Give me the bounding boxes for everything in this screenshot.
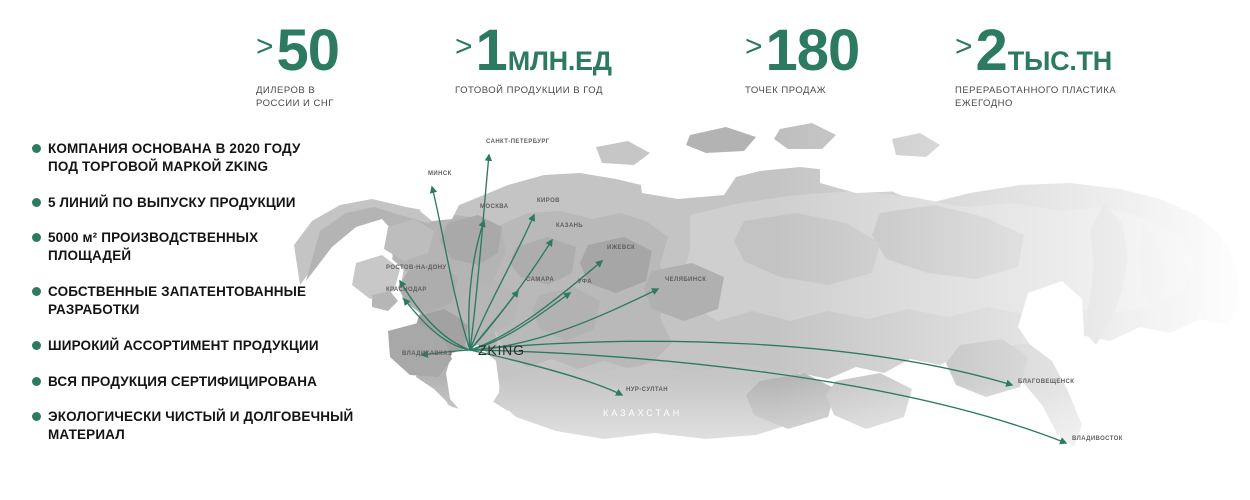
- greater-than-icon: >: [256, 32, 274, 62]
- country-label-kazakhstan: КАЗАХСТАН: [603, 408, 682, 418]
- city-label-chelyabinsk: ЧЕЛЯБИНСК: [665, 277, 706, 283]
- stat-dealers: > 50 ДИЛЕРОВ В РОССИИ И СНГ: [256, 22, 340, 111]
- stat-recycled-plastic-number: 2: [976, 22, 1007, 80]
- list-item: 5 ЛИНИЙ ПО ВЫПУСКУ ПРОДУКЦИИ: [32, 194, 412, 212]
- city-label-moscow: МОСКВА: [480, 204, 509, 210]
- list-item: ШИРОКИЙ АССОРТИМЕНТ ПРОДУКЦИИ: [32, 337, 412, 355]
- stat-dealers-subtitle: ДИЛЕРОВ В РОССИИ И СНГ: [256, 85, 340, 111]
- country-label-belarus: БЕЛАРУСИЯ: [432, 150, 508, 159]
- bullet-dot-icon: [32, 198, 41, 207]
- city-label-blagoveshchensk: БЛАГОВЕЩЕНСК: [1018, 379, 1074, 385]
- stat-output-subtitle: ГОТОВОЙ ПРОДУКЦИИ В ГОД: [455, 85, 612, 98]
- greater-than-icon: >: [455, 32, 473, 62]
- list-item: КОМПАНИЯ ОСНОВАНА В 2020 ГОДУ ПОД ТОРГОВ…: [32, 140, 412, 176]
- bullet-dot-icon: [32, 377, 41, 386]
- stat-dealers-number: 50: [277, 22, 340, 80]
- stat-recycled-plastic: > 2 ТЫС.ТН ПЕРЕРАБОТАННОГО ПЛАСТИКА ЕЖЕГ…: [955, 22, 1116, 111]
- stat-points-of-sale-figure: > 180: [745, 22, 860, 80]
- greater-than-icon: >: [955, 32, 973, 62]
- feature-list: КОМПАНИЯ ОСНОВАНА В 2020 ГОДУ ПОД ТОРГОВ…: [32, 140, 412, 462]
- stat-output: > 1 МЛН.ЕД ГОТОВОЙ ПРОДУКЦИИ В ГОД: [455, 22, 612, 98]
- stat-points-of-sale: > 180 ТОЧЕК ПРОДАЖ: [745, 22, 860, 98]
- bullet-dot-icon: [32, 144, 41, 153]
- feature-label: СОБСТВЕННЫЕ ЗАПАТЕНТОВАННЫЕ РАЗРАБОТКИ: [48, 283, 306, 319]
- bullet-dot-icon: [32, 412, 41, 421]
- stat-recycled-plastic-subtitle: ПЕРЕРАБОТАННОГО ПЛАСТИКА ЕЖЕГОДНО: [955, 85, 1116, 111]
- statistics-strip: > 50 ДИЛЕРОВ В РОССИИ И СНГ > 1 МЛН.ЕД Г…: [0, 0, 1250, 112]
- feature-label: ШИРОКИЙ АССОРТИМЕНТ ПРОДУКЦИИ: [48, 337, 319, 355]
- bullet-dot-icon: [32, 233, 41, 242]
- bullet-dot-icon: [32, 287, 41, 296]
- list-item: 5000 м² ПРОИЗВОДСТВЕННЫХ ПЛОЩАДЕЙ: [32, 229, 412, 265]
- feature-label: ВСЯ ПРОДУКЦИЯ СЕРТИФИЦИРОВАНА: [48, 373, 317, 391]
- feature-label: 5 ЛИНИЙ ПО ВЫПУСКУ ПРОДУКЦИИ: [48, 194, 296, 212]
- stat-recycled-plastic-unit: ТЫС.ТН: [1008, 48, 1112, 75]
- greater-than-icon: >: [745, 32, 763, 62]
- stat-output-figure: > 1 МЛН.ЕД: [455, 22, 612, 80]
- list-item: ЭКОЛОГИЧЕСКИ ЧИСТЫЙ И ДОЛГОВЕЧНЫЙ МАТЕРИ…: [32, 408, 412, 444]
- city-label-vladivostok: ВЛАДИВОСТОК: [1072, 436, 1123, 442]
- stat-output-unit: МЛН.ЕД: [508, 48, 612, 75]
- feature-label: КОМПАНИЯ ОСНОВАНА В 2020 ГОДУ ПОД ТОРГОВ…: [48, 140, 301, 176]
- stat-output-number: 1: [476, 22, 507, 80]
- infographic-page: БЕЛАРУСИЯ КАЗАХСТАН САНКТ-ПЕТЕРБУРГ МИНС…: [0, 0, 1250, 500]
- stat-dealers-figure: > 50: [256, 22, 340, 80]
- city-label-samara: САМАРА: [526, 277, 554, 283]
- city-label-saint-petersburg: САНКТ-ПЕТЕРБУРГ: [486, 139, 550, 145]
- city-label-izhevsk: ИЖЕВСК: [607, 245, 635, 251]
- hub-label-zking: ZKING: [478, 342, 525, 358]
- stat-points-of-sale-number: 180: [766, 22, 860, 80]
- feature-label: 5000 м² ПРОИЗВОДСТВЕННЫХ ПЛОЩАДЕЙ: [48, 229, 258, 265]
- stat-recycled-plastic-figure: > 2 ТЫС.ТН: [955, 22, 1116, 80]
- city-label-nur-sultan: НУР-СУЛТАН: [626, 387, 668, 393]
- city-label-ufa: УФА: [578, 279, 592, 285]
- list-item: ВСЯ ПРОДУКЦИЯ СЕРТИФИЦИРОВАНА: [32, 373, 412, 391]
- city-label-minsk: МИНСК: [428, 171, 452, 177]
- stat-points-of-sale-subtitle: ТОЧЕК ПРОДАЖ: [745, 85, 860, 98]
- city-label-kirov: КИРОВ: [537, 198, 560, 204]
- list-item: СОБСТВЕННЫЕ ЗАПАТЕНТОВАННЫЕ РАЗРАБОТКИ: [32, 283, 412, 319]
- feature-label: ЭКОЛОГИЧЕСКИ ЧИСТЫЙ И ДОЛГОВЕЧНЫЙ МАТЕРИ…: [48, 408, 353, 444]
- bullet-dot-icon: [32, 341, 41, 350]
- city-label-kazan: КАЗАНЬ: [556, 223, 583, 229]
